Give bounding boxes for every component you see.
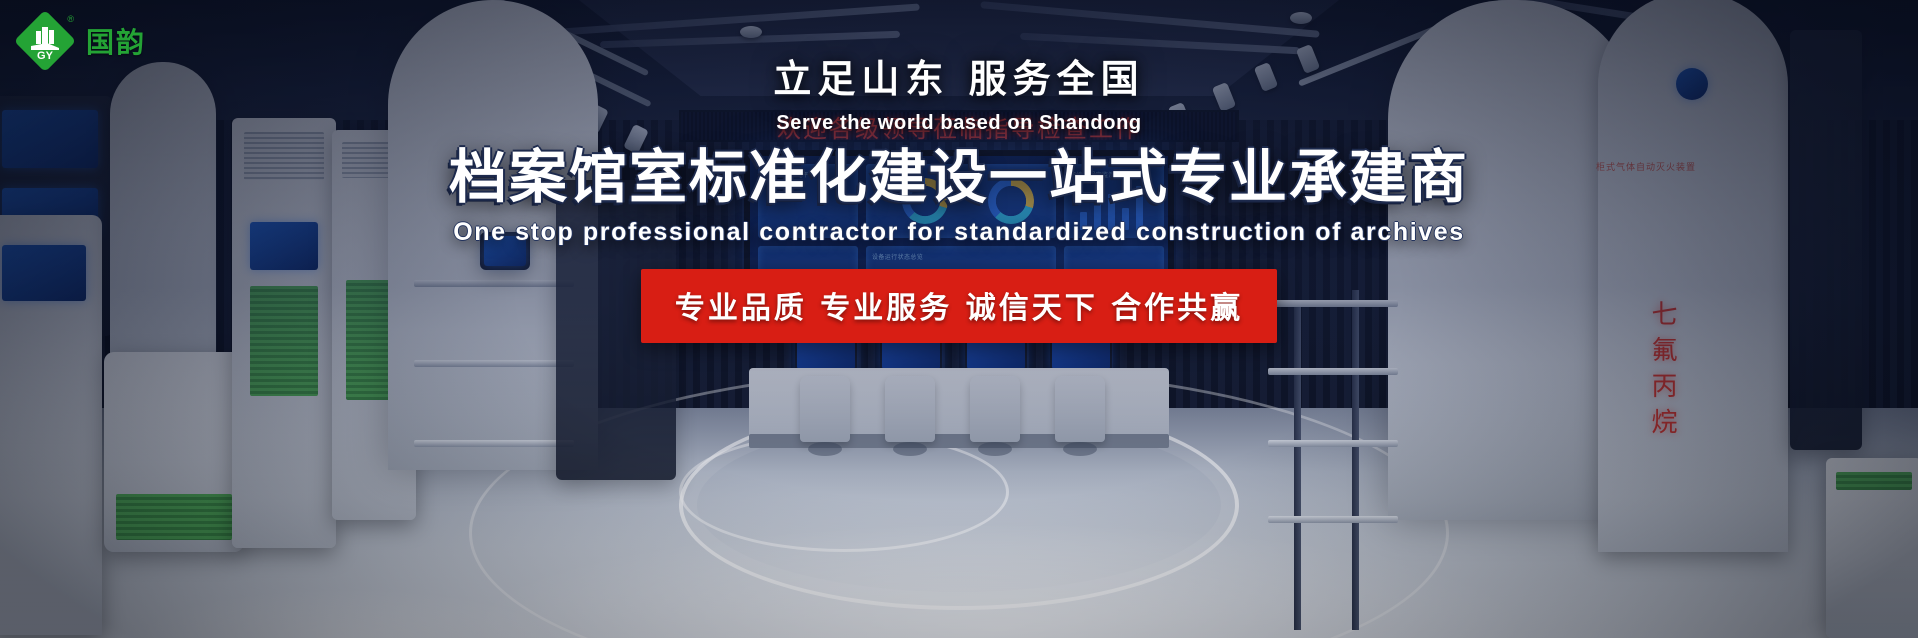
display-screen [484,236,526,266]
video-wall-caption: 设备运行状态总览 [872,252,923,261]
gy-building-diamond-logo: GY ® [14,10,76,72]
office-chair [970,376,1020,442]
fire-suppression-vertical-text: 七氟丙烷 [1644,300,1681,444]
shelf-board [414,440,574,447]
fire-suppression-cabinet [1598,0,1788,552]
video-wall-caption: 智慧档案库房监控 [872,170,923,179]
control-screen [250,222,318,270]
shelf-post [1352,290,1359,630]
air-vent [244,132,324,180]
wall-monitor-left [480,232,530,270]
video-wall-caption: 综合安防管理平台 [764,170,815,179]
hero-banner: 欢迎各级领导莅临指导检查工作 综合安防管理平台 智慧档案库房监控 环境温湿度监测… [0,0,1918,638]
cabinet-indicator [1676,68,1708,100]
office-chair [1055,376,1105,442]
mobile-shelving-trolley [104,352,244,552]
hero-cta-label: 专业品质 专业服务 诚信天下 合作共赢 [675,291,1243,326]
shelf-board [1268,516,1398,523]
smoke-detector [1290,12,1312,24]
video-wall-bar [1094,202,1101,230]
hero-cta-button[interactable]: 专业品质 专业服务 诚信天下 合作共赢 [641,269,1277,343]
video-wall-bar [1122,208,1129,230]
video-wall-bar [1136,186,1143,230]
shelf-board [414,280,574,287]
smoke-detector [740,26,762,38]
video-wall-caption: 环境温湿度监测 [1070,170,1115,179]
led-marquee-text: 欢迎各级领导莅临指导检查工作 [777,110,1141,142]
air-purifier-unit [232,118,336,548]
shelf-post [1294,300,1301,630]
trolley-green-stripe [116,494,232,540]
brand-name: 国韵 [86,21,146,61]
registered-trademark-icon: ® [67,14,74,24]
office-chair [885,376,935,442]
video-wall-bar [1108,194,1115,230]
brand-green-strip [1836,472,1912,490]
video-wall-donut-chart [902,178,948,224]
shelf-board [414,360,574,367]
archive-cabinet [0,215,102,635]
status-indicator-strip [250,286,318,396]
video-wall-bar [1080,212,1087,230]
shelf-board [1268,440,1398,447]
dehumidifier-unit [110,62,216,362]
shelf-board [1268,368,1398,375]
shelving-bay-right [1790,30,1862,450]
shelf-board [1268,300,1398,307]
svg-text:GY: GY [37,50,54,62]
video-wall-donut-chart [988,178,1034,224]
cabinet-touch-panel [2,245,86,301]
brand-logo[interactable]: GY ® 国韵 [14,10,146,72]
display-screen [2,110,98,168]
led-marquee: 欢迎各级领导莅临指导检查工作 [679,110,1239,142]
fire-suppression-label: 柜式气体自动灭火装置 [1596,160,1696,173]
office-chair [800,376,850,442]
floor-arc-inner [679,432,1009,552]
dehumidifier-unit-right [1826,458,1918,638]
